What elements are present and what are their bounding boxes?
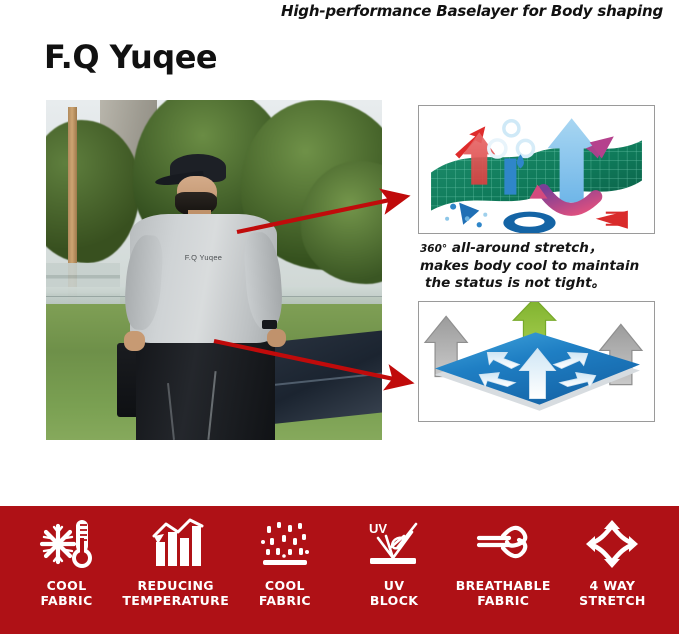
feature-reducing-temperature[interactable]: REDUCING TEMPERATURE xyxy=(121,516,230,608)
feature-uv-block[interactable]: UV UV BLOCK xyxy=(340,516,449,608)
air-flow-icon xyxy=(475,516,531,572)
feature-bar: COOL FABRIC REDUCING TEMPERATUR xyxy=(0,506,679,634)
gray-baselayer-shirt: F.Q Yuqee xyxy=(130,214,277,343)
uv-block-icon: UV xyxy=(366,516,422,572)
wrist-watch xyxy=(262,320,277,329)
model-product-photo: F.Q Yuqee xyxy=(46,100,382,440)
stretch-fabric-diagram xyxy=(418,105,655,234)
stretch-fabric-illustration xyxy=(419,106,654,233)
cool-particles xyxy=(445,203,487,228)
feature-cool-fabric-1[interactable]: COOL FABRIC xyxy=(12,516,121,608)
model-figure: F.Q Yuqee xyxy=(113,154,301,440)
feature-label: 4 WAY STRETCH xyxy=(579,578,646,608)
stretch-caption: 360° all-around stretch， makes body cool… xyxy=(420,240,666,292)
caption-line1: all-around stretch， xyxy=(447,240,602,256)
moisture-droplet-icons xyxy=(489,121,534,157)
feature-cool-fabric-2[interactable]: COOL FABRIC xyxy=(230,516,339,608)
product-infographic-page: High-performance Baselayer for Body shap… xyxy=(0,0,679,634)
feature-label: BREATHABLE FABRIC xyxy=(456,578,551,608)
caption-line2: makes body cool to maintain xyxy=(420,258,666,275)
water-droplets-icon xyxy=(257,516,313,572)
feature-breathable-fabric[interactable]: BREATHABLE FABRIC xyxy=(449,516,558,608)
bar-chart-down-arrow-icon xyxy=(148,516,204,572)
left-hand xyxy=(124,331,145,351)
right-hand xyxy=(267,329,286,348)
snowflake-thermometer-icon xyxy=(39,516,95,572)
feature-label: COOL FABRIC xyxy=(41,578,93,608)
photo-scene: F.Q Yuqee xyxy=(46,100,382,440)
feature-label: REDUCING TEMPERATURE xyxy=(122,578,229,608)
feature-4-way-stretch[interactable]: 4 WAY STRETCH xyxy=(558,516,667,608)
droplet-stem xyxy=(504,158,516,194)
brand-title: F.Q Yuqee xyxy=(44,38,217,76)
feature-label: COOL FABRIC xyxy=(259,578,311,608)
shirt-chest-logo: F.Q Yuqee xyxy=(130,253,277,262)
page-tagline: High-performance Baselayer for Body shap… xyxy=(281,2,663,20)
breathable-fabric-diagram xyxy=(418,301,655,422)
heat-arrow-striped xyxy=(596,211,628,229)
breathable-fabric-illustration xyxy=(419,302,654,421)
feature-label: UV BLOCK xyxy=(370,578,419,608)
black-leggings xyxy=(136,331,275,440)
svg-text:UV: UV xyxy=(369,521,387,536)
caption-line3: the status is not tight。 xyxy=(420,275,666,292)
caption-degree: 360° xyxy=(420,243,447,255)
four-way-stretch-icon xyxy=(584,516,640,572)
